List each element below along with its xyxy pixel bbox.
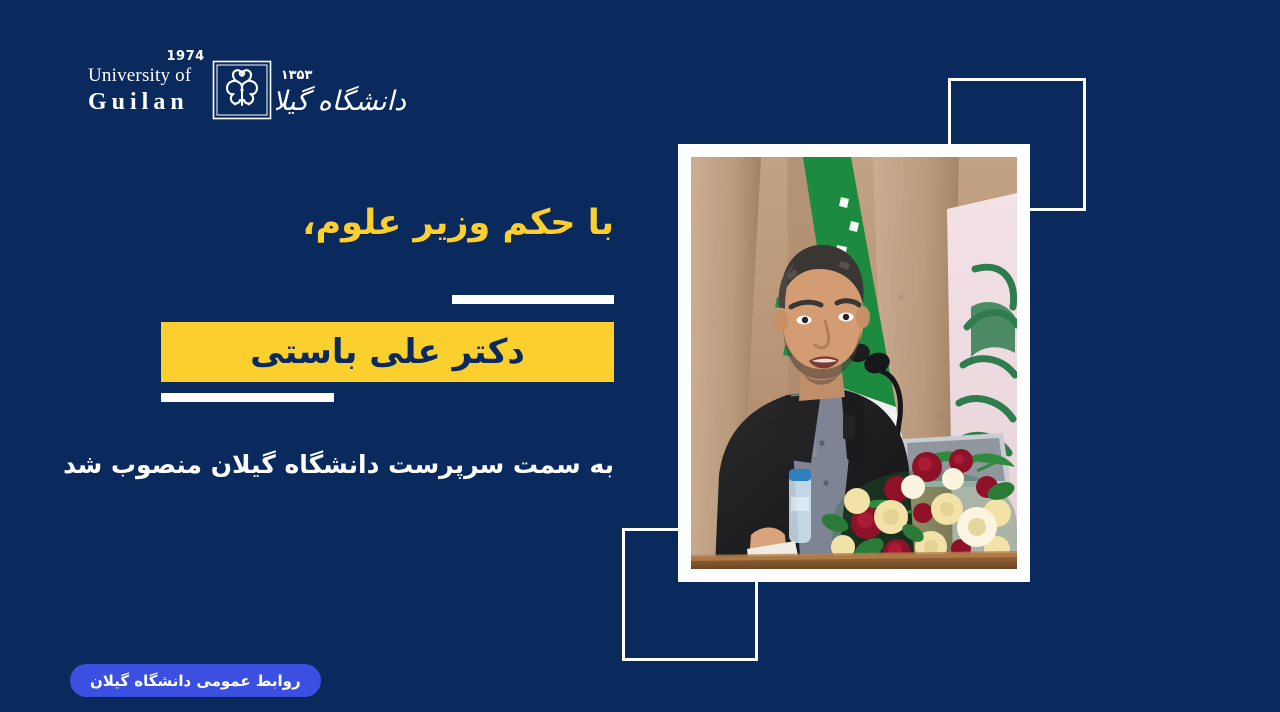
poster-canvas: 1974 University of Guilan	[0, 0, 1280, 712]
logo-english-line1: University of	[88, 66, 191, 85]
logo-year-gregorian: 1974	[167, 50, 205, 63]
university-logo: 1974 University of Guilan	[88, 42, 408, 138]
speaker-portrait-photo	[691, 157, 1017, 569]
headline-text: با حکم وزیر علوم،	[302, 203, 614, 243]
white-rule-top	[452, 295, 614, 304]
person-name: دکتر علی باستی	[250, 335, 525, 369]
photo-frame	[678, 144, 1030, 582]
logo-persian-block: ۱۳۵۳ دانشگاه گیلان	[279, 50, 408, 130]
logo-english-block: 1974 University of Guilan	[88, 66, 201, 114]
public-relations-badge: روابط عمومی دانشگاه گیلان	[70, 664, 321, 697]
white-rule-bottom	[161, 393, 334, 402]
logo-persian-name-text: دانشگاه گیلان	[276, 85, 407, 117]
badge-label: روابط عمومی دانشگاه گیلان	[90, 672, 301, 690]
butterfly-emblem-icon	[211, 59, 273, 121]
highlighted-name-bar: دکتر علی باستی	[161, 322, 614, 382]
logo-persian-name: دانشگاه گیلان	[276, 52, 408, 128]
logo-english-line2: Guilan	[88, 90, 189, 114]
subline-text: به سمت سرپرست دانشگاه گیلان منصوب شد	[63, 450, 614, 479]
